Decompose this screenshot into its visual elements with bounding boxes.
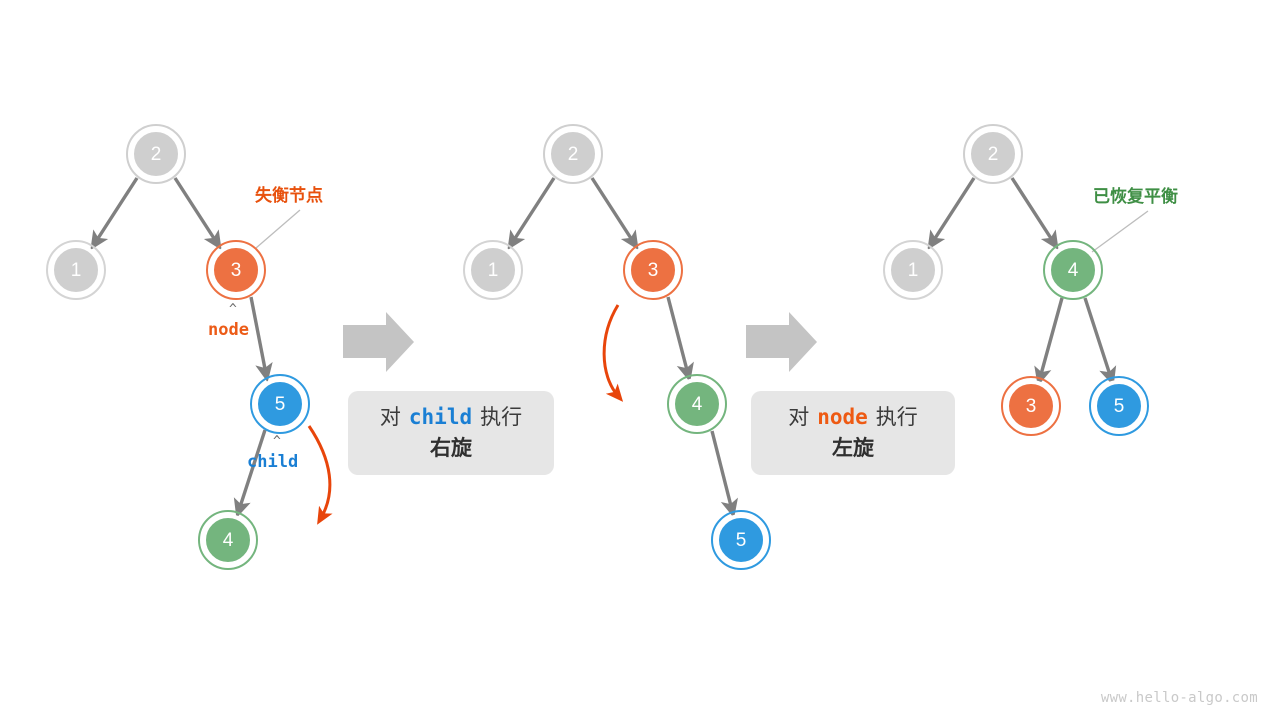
- transition-arrow-1: [343, 312, 414, 372]
- tree-node-1[interactable]: 1: [50, 244, 102, 296]
- tree-node-5-child[interactable]: 5: [254, 378, 306, 430]
- operation-target: node: [817, 402, 868, 432]
- operation-prefix: 对: [788, 403, 809, 433]
- diagram-canvas: 2 1 3 5 4 失衡节点 ^ node ^ child 对 child 执行…: [0, 0, 1280, 720]
- tree-node-4[interactable]: 4: [202, 514, 254, 566]
- tree-node-3-unbalanced[interactable]: 3: [210, 244, 262, 296]
- left-rotation-arrow: [604, 305, 618, 396]
- operation-box-left-rotate: 对 node 执行 左旋: [751, 391, 955, 475]
- watermark: www.hello-algo.com: [1101, 690, 1258, 706]
- tree-node-5[interactable]: 5: [1093, 380, 1145, 432]
- operation-line-primary: 对 child 执行: [380, 402, 522, 433]
- diagram-vector-layer: [0, 0, 1280, 720]
- tree-node-3[interactable]: 3: [627, 244, 679, 296]
- operation-box-right-rotate: 对 child 执行 右旋: [348, 391, 554, 475]
- node-pointer-caret-icon: ^: [229, 302, 237, 317]
- panel-1-edges: [95, 178, 266, 510]
- tree-node-5[interactable]: 5: [715, 514, 767, 566]
- operation-prefix: 对: [380, 403, 401, 433]
- tree-node-2[interactable]: 2: [547, 128, 599, 180]
- pointer-label-node: node: [208, 320, 249, 340]
- callout-unbalanced-node: 失衡节点: [255, 181, 323, 206]
- pointer-label-child: child: [247, 452, 298, 472]
- tree-node-4[interactable]: 4: [671, 378, 723, 430]
- operation-target: child: [409, 402, 472, 432]
- callout-leader-line-2: [1092, 211, 1148, 252]
- tree-node-3[interactable]: 3: [1005, 380, 1057, 432]
- operation-suffix: 执行: [480, 403, 522, 433]
- tree-node-2[interactable]: 2: [130, 128, 182, 180]
- operation-action: 右旋: [430, 434, 472, 464]
- child-pointer-caret-icon: ^: [273, 434, 281, 449]
- operation-suffix: 执行: [876, 403, 918, 433]
- callout-rebalanced: 已恢复平衡: [1093, 182, 1178, 207]
- right-rotation-arrow: [309, 426, 330, 518]
- tree-node-1[interactable]: 1: [467, 244, 519, 296]
- operation-action: 左旋: [832, 434, 874, 464]
- callout-leader-line-1: [256, 210, 300, 248]
- tree-node-1[interactable]: 1: [887, 244, 939, 296]
- tree-node-4-balanced[interactable]: 4: [1047, 244, 1099, 296]
- tree-node-2[interactable]: 2: [967, 128, 1019, 180]
- operation-line-primary: 对 node 执行: [788, 402, 918, 433]
- transition-arrow-2: [746, 312, 817, 372]
